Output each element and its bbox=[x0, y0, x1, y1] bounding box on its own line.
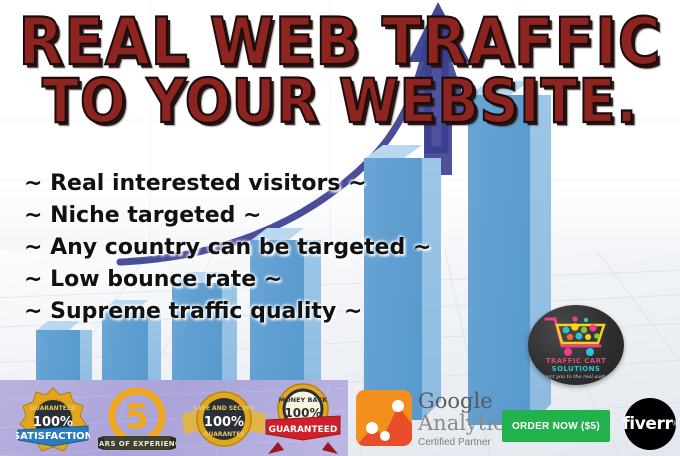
list-item: ~ Any country can be targeted ~ bbox=[24, 232, 564, 264]
badge-percent: 100% bbox=[204, 415, 244, 430]
brand-name: TRAFFIC CART SOLUTIONS bbox=[528, 357, 624, 373]
brand-tagline: connect you to the real audience bbox=[528, 374, 624, 380]
badge-top-text: GUARANTEED bbox=[30, 405, 76, 412]
years-of-experience-badge: 5 YEARS OF EXPERIENCE bbox=[98, 388, 176, 452]
list-item: ~ Low bounce rate ~ bbox=[24, 264, 564, 296]
badge-ribbon-text: GUARANTEED bbox=[269, 425, 338, 435]
bar-top bbox=[364, 145, 422, 159]
fiverr-logo[interactable]: fiverr® bbox=[624, 398, 676, 450]
fiverr-wordmark: fiverr bbox=[622, 414, 672, 434]
brand-name-line-2: SOLUTIONS bbox=[528, 365, 624, 373]
list-item: ~ Niche targeted ~ bbox=[24, 200, 564, 232]
registered-mark: ® bbox=[673, 421, 678, 428]
promo-banner: REAL WEB TRAFFIC TO YOUR WEBSITE. ~ Real… bbox=[0, 0, 680, 456]
badge-ribbon-text: YEARS OF EXPERIENCE bbox=[98, 440, 176, 448]
google-wordmark: Google bbox=[418, 390, 493, 412]
badge-top-text: MONEY BACK bbox=[279, 396, 329, 404]
list-item: ~ Supreme traffic quality ~ bbox=[24, 296, 564, 328]
brand-name-line-1: TRAFFIC CART bbox=[528, 357, 624, 365]
analytics-chart-icon bbox=[356, 390, 412, 446]
badge-bottom-text: GUARANTEE bbox=[204, 431, 245, 438]
money-back-guaranteed-badge: MONEY BACK 100% GUARANTEED bbox=[262, 382, 344, 454]
google-analytics-logo: Google Analytics Certified Partner bbox=[352, 382, 492, 456]
shopping-cart-icon bbox=[542, 313, 612, 357]
brand-logo: TRAFFIC CART SOLUTIONS connect you to th… bbox=[528, 305, 624, 385]
bar-top bbox=[468, 81, 530, 96]
badge-number: 5 bbox=[125, 397, 149, 437]
badge-top-text: SAFE AND SECURE bbox=[193, 405, 255, 412]
certified-partner-label: Certified Partner bbox=[418, 437, 491, 448]
order-now-button[interactable]: ORDER NOW ($5) bbox=[502, 410, 610, 442]
safe-and-secure-badge: SAFE AND SECURE 100% GUARANTEE bbox=[182, 388, 266, 450]
analytics-wordmark: Analytics bbox=[418, 412, 515, 434]
satisfaction-guaranteed-badge: GUARANTEED 100% SATISFACTION bbox=[16, 386, 90, 452]
feature-list: ~ Real interested visitors ~ ~ Niche tar… bbox=[24, 168, 564, 328]
badge-ribbon-text: SATISFACTION bbox=[16, 431, 90, 442]
list-item: ~ Real interested visitors ~ bbox=[24, 168, 564, 200]
trust-badge-strip: GUARANTEED 100% SATISFACTION 5 YEARS OF … bbox=[0, 380, 348, 456]
